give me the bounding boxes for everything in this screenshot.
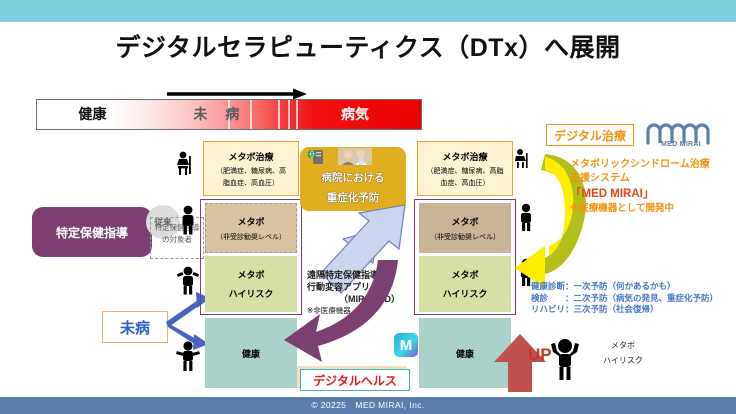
digital-health-callout: デジタルヘルス	[300, 369, 410, 391]
person-icon-active	[176, 340, 200, 372]
left-treatment-sub1: （肥満症、糖尿病、高	[216, 166, 286, 176]
prevention-line-1: 健康診断：一次予防（何かあるかも）	[531, 281, 736, 293]
tokutei-hoken-shidou-label: 特定保健指導	[56, 224, 128, 241]
left-treatment-sub2: 脂血症、高血圧）	[223, 178, 279, 188]
digital-health-label: デジタルヘルス	[313, 372, 397, 389]
right-healthy-label: 健康	[456, 347, 474, 360]
copyright-text: © 20225 MED MIRAI, Inc.	[0, 399, 736, 411]
slide-canvas: デジタルセラピューティクス（DTx）へ展開 健康 未 病 病気 特定保健指導 従…	[0, 0, 736, 414]
dev-note: ※医療機器として開発中	[570, 202, 736, 216]
right-metabo-box: メタボ （非受診勧奨レベル）	[419, 203, 511, 253]
right-treatment-sub1: （肥満症、糖尿病、高脂	[427, 166, 504, 176]
mibyo-callout: 未病	[102, 311, 168, 343]
page-title: デジタルセラピューティクス（DTx）へ展開	[0, 28, 736, 64]
right-treatment-title: メタボ治療	[442, 150, 487, 163]
right-treatment-sub2: 血症、高血圧）	[441, 178, 490, 188]
hospital-line1: 病院における	[322, 170, 385, 185]
prevention-line-2: 検診 ：二次予防（病気の発見、重症化予防）	[531, 293, 736, 305]
prevention-levels-list: 健康診断：一次予防（何かあるかも） 検診 ：二次予防（病気の発見、重症化予防） …	[531, 281, 736, 316]
med-mirai-description: メタボリックシンドローム治療 支援システム 「MED MIRAI」 ※医療機器と…	[570, 158, 736, 216]
doctor-patient-photo	[338, 148, 372, 165]
downward-purple-arrow	[282, 258, 402, 368]
right-highrisk-line2: ハイリスク	[443, 287, 488, 300]
mibyo-label: 未病	[120, 317, 150, 338]
progression-label-disease: 病気	[300, 99, 410, 130]
left-metabo-box: メタボ （非受診勧奨レベル）	[205, 203, 297, 253]
prevention-line-3: リハビリ：三次予防（社会復帰）	[531, 304, 736, 316]
digital-treatment-callout: デジタル治療	[546, 124, 634, 146]
progression-label-healthy: 健康	[40, 99, 145, 130]
person-icon-strong	[550, 338, 580, 380]
mh-line1: メタボ	[583, 338, 663, 353]
progression-label-pre-disease: 未 病	[175, 99, 265, 130]
up-label: UP	[528, 345, 552, 365]
person-icon-seated	[174, 150, 198, 176]
desc-line1: メタボリックシンドローム治療	[570, 158, 736, 172]
left-treatment-title: メタボ治療	[228, 150, 273, 163]
person-icon-standing	[178, 205, 198, 235]
med-mirai-logo-text: MED MIRAI	[645, 141, 717, 148]
left-metabo-treatment-box: メタボ治療 （肥満症、糖尿病、高 脂血症、高血圧）	[203, 141, 299, 196]
hospital-line2: 重症化予防	[327, 190, 380, 205]
bar-tick	[288, 100, 290, 129]
bar-tick	[296, 100, 298, 129]
right-metabo-title: メタボ	[451, 215, 478, 228]
product-name: 「MED MIRAI」	[570, 186, 736, 202]
desc-line2: 支援システム	[570, 172, 736, 186]
right-highrisk-line1: メタボ	[451, 268, 478, 281]
left-metabo-title: メタボ	[237, 215, 264, 228]
miramed-app-icon[interactable]: M	[394, 333, 418, 357]
digital-treatment-label: デジタル治療	[554, 127, 626, 144]
top-accent-band	[0, 0, 736, 22]
right-metabo-highrisk-box: メタボ ハイリスク	[419, 256, 511, 312]
left-highrisk-line2: ハイリスク	[229, 287, 274, 300]
left-metabo-sub: （非受診勧奨レベル）	[216, 232, 286, 242]
app-icon-glyph: M	[400, 337, 413, 354]
target-group-line2: の対象者	[148, 234, 206, 246]
server-globe-icon	[307, 149, 325, 165]
tokutei-hoken-shidou-button[interactable]: 特定保健指導	[32, 207, 152, 257]
metabo-highrisk-right-label: メタボ ハイリスク	[583, 338, 663, 368]
left-highrisk-line1: メタボ	[237, 268, 264, 281]
mh-line2: ハイリスク	[583, 353, 663, 368]
right-metabo-treatment-box: メタボ治療 （肥満症、糖尿病、高脂 血症、高血圧）	[417, 141, 513, 196]
person-icon-arms-up	[176, 265, 200, 295]
left-healthy-label: 健康	[242, 347, 260, 360]
right-metabo-sub: （非受診勧奨レベル）	[430, 232, 500, 242]
bar-tick	[278, 100, 280, 129]
